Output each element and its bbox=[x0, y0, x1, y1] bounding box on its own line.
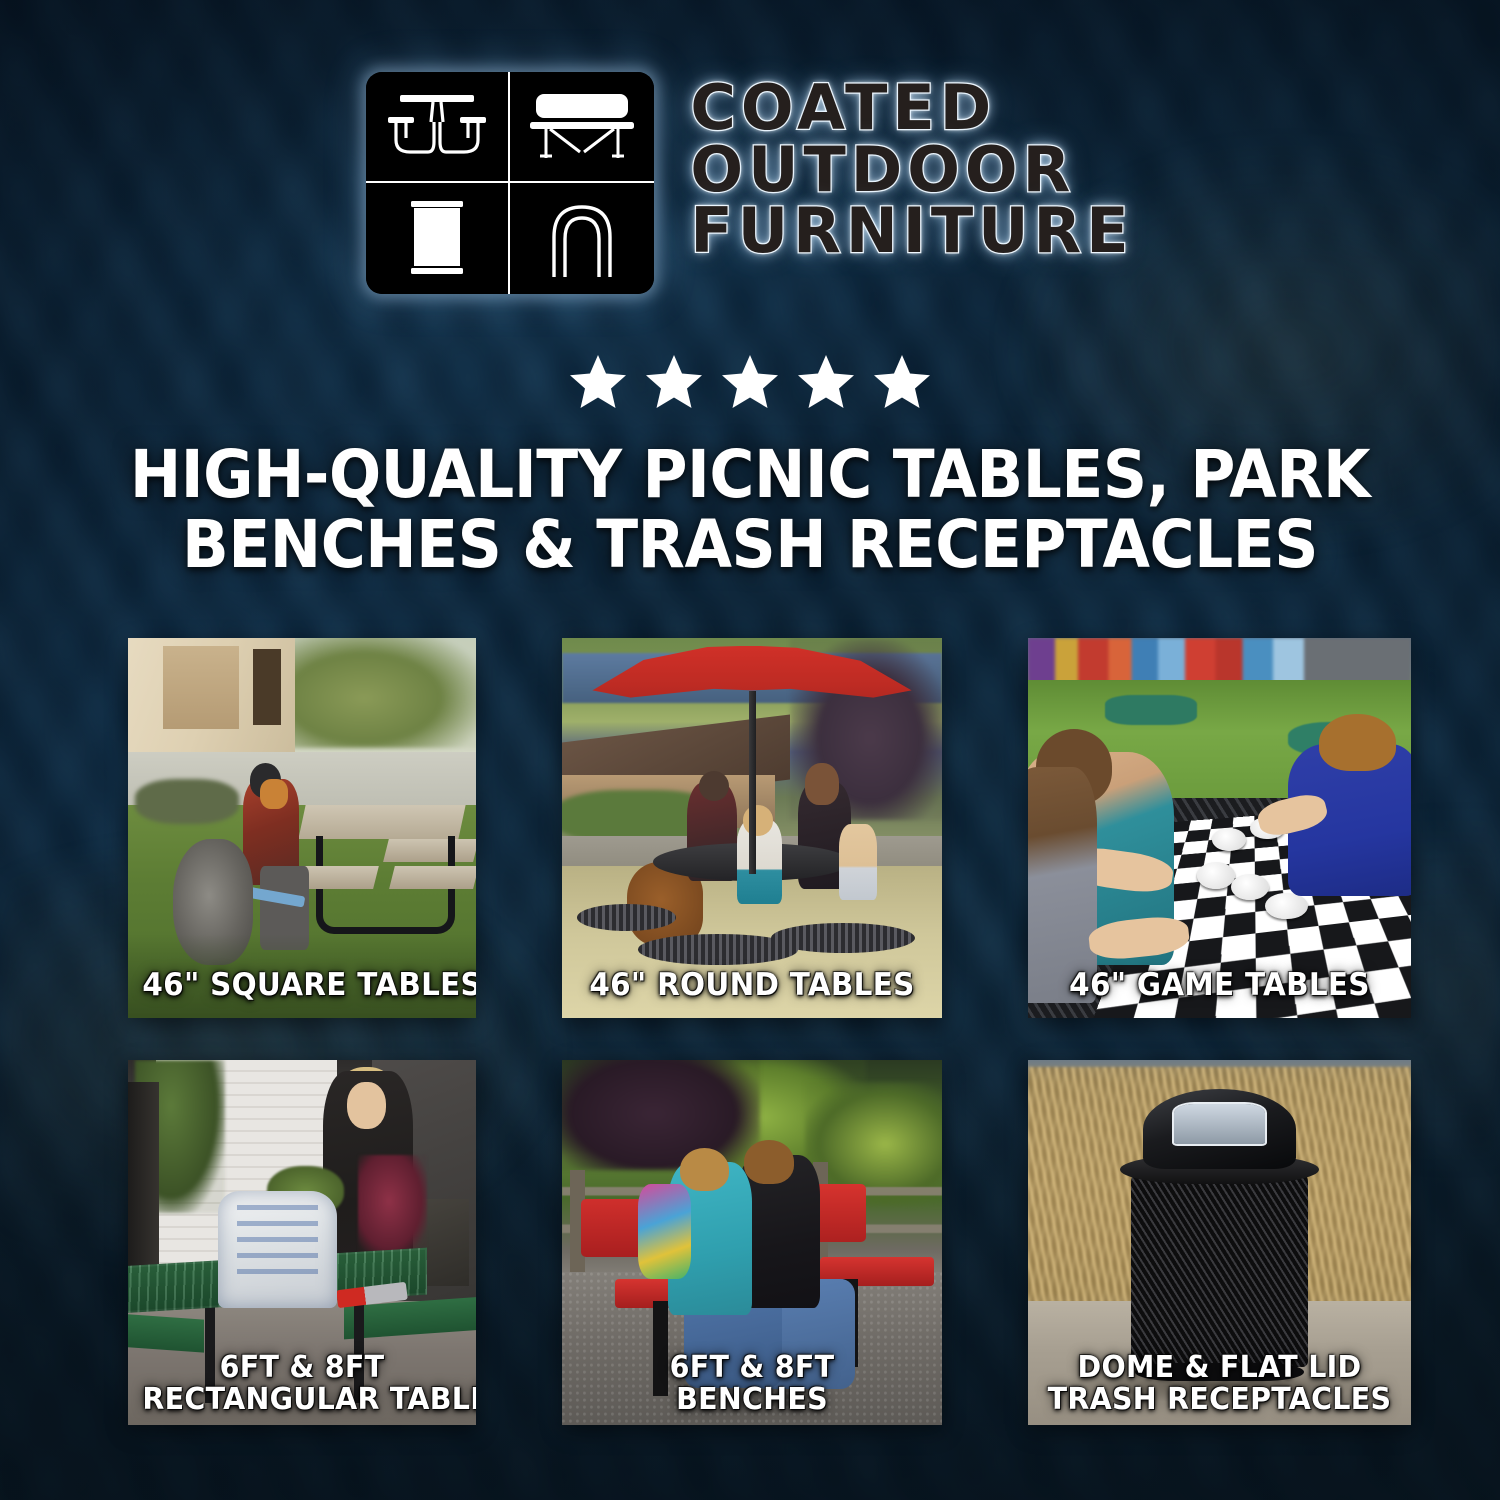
brand-name-line-1: COATED bbox=[690, 78, 1133, 138]
page-title-line-1: HIGH-QUALITY PICNIC TABLES, PARK bbox=[118, 440, 1383, 510]
brand-name: COATED OUTDOOR FURNITURE bbox=[690, 72, 1133, 261]
trash-receptacle-icon bbox=[366, 183, 510, 294]
caption-line: 46" GAME TABLES bbox=[1043, 969, 1395, 1002]
product-tile-trash-receptacles[interactable]: DOME & FLAT LID TRASH RECEPTACLES bbox=[1028, 1060, 1411, 1425]
star-icon-1 bbox=[567, 352, 629, 412]
caption-line: 6FT & 8FT bbox=[142, 1352, 461, 1384]
product-caption-square-tables: 46" SQUARE TABLES bbox=[142, 969, 461, 1002]
product-grid: 46" SQUARE TABLES bbox=[128, 638, 1383, 1425]
product-caption-benches: 6FT & 8FT BENCHES bbox=[577, 1352, 927, 1415]
product-photo-round-tables bbox=[562, 638, 942, 1018]
picnic-table-icon bbox=[366, 72, 510, 183]
product-caption-trash-receptacles: DOME & FLAT LID TRASH RECEPTACLES bbox=[1043, 1352, 1395, 1415]
caption-line: TRASH RECEPTACLES bbox=[1043, 1384, 1395, 1416]
product-photo-game-tables bbox=[1028, 638, 1411, 1018]
product-caption-game-tables: 46" GAME TABLES bbox=[1043, 969, 1395, 1002]
product-tile-rectangular-tables[interactable]: 6FT & 8FT RECTANGULAR TABLES bbox=[128, 1060, 476, 1425]
poster-canvas: COATED OUTDOOR FURNITURE HIGH-QUALITY PI… bbox=[0, 0, 1500, 1500]
page-title: HIGH-QUALITY PICNIC TABLES, PARK BENCHES… bbox=[118, 440, 1383, 580]
star-icon-2 bbox=[643, 352, 705, 412]
caption-line: 6FT & 8FT bbox=[577, 1352, 927, 1384]
caption-line: 46" SQUARE TABLES bbox=[142, 969, 461, 1002]
caption-line: RECTANGULAR TABLES bbox=[142, 1384, 461, 1416]
caption-line: BENCHES bbox=[577, 1384, 927, 1416]
brand-logo: COATED OUTDOOR FURNITURE bbox=[0, 72, 1500, 294]
product-caption-rectangular-tables: 6FT & 8FT RECTANGULAR TABLES bbox=[142, 1352, 461, 1415]
page-title-line-2: BENCHES & TRASH RECEPTACLES bbox=[118, 510, 1383, 580]
product-tile-benches[interactable]: 6FT & 8FT BENCHES bbox=[562, 1060, 942, 1425]
star-rating bbox=[0, 352, 1500, 422]
star-icon-3 bbox=[719, 352, 781, 412]
star-icon-5 bbox=[871, 352, 933, 412]
logo-icon-grid bbox=[366, 72, 654, 294]
product-tile-square-tables[interactable]: 46" SQUARE TABLES bbox=[128, 638, 476, 1018]
brand-name-line-3: FURNITURE bbox=[690, 201, 1133, 261]
product-tile-game-tables[interactable]: 46" GAME TABLES bbox=[1028, 638, 1411, 1018]
park-bench-icon bbox=[510, 72, 654, 183]
caption-line: DOME & FLAT LID bbox=[1043, 1352, 1395, 1384]
product-photo-square-tables bbox=[128, 638, 476, 1018]
poster-content: COATED OUTDOOR FURNITURE HIGH-QUALITY PI… bbox=[0, 0, 1500, 1500]
product-caption-round-tables: 46" ROUND TABLES bbox=[577, 969, 927, 1002]
bike-rack-icon bbox=[510, 183, 654, 294]
product-tile-round-tables[interactable]: 46" ROUND TABLES bbox=[562, 638, 942, 1018]
star-icon-4 bbox=[795, 352, 857, 412]
brand-name-line-2: OUTDOOR bbox=[690, 140, 1133, 200]
caption-line: 46" ROUND TABLES bbox=[577, 969, 927, 1002]
